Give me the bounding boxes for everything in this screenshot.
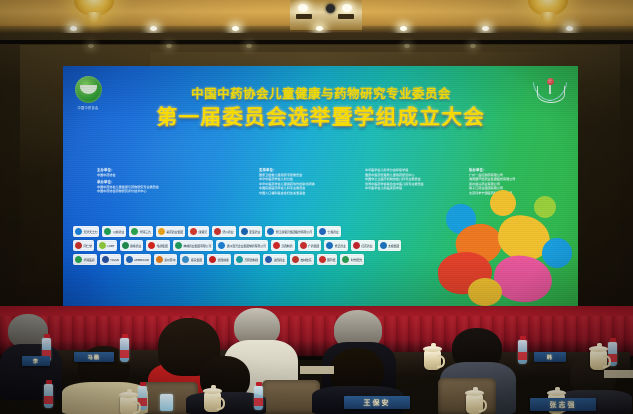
bottle-label <box>44 396 53 404</box>
ceiling-spotlight <box>70 26 77 31</box>
bottle-cap <box>140 382 146 386</box>
wall-light-spot <box>246 44 252 48</box>
tea-cup <box>204 392 221 412</box>
projector-lens <box>326 4 335 13</box>
placard-text: 张志强 <box>550 400 577 410</box>
bottle-label <box>254 398 263 406</box>
ceiling-spotlight <box>316 26 323 31</box>
ceiling-spotlight <box>150 26 157 31</box>
placard-wang-baoan: 王保安 <box>344 396 410 409</box>
projector-vent-right <box>338 14 354 19</box>
cup-knob <box>597 343 602 347</box>
projector-lamp-right <box>342 4 352 12</box>
tea-cup <box>424 350 441 370</box>
audience-area: 马融 王保安 张志强 李 韩 <box>0 300 633 414</box>
water-bottle <box>120 338 129 362</box>
tea-cup <box>120 396 137 414</box>
bottle-cap <box>256 382 262 386</box>
paper-document <box>300 366 334 374</box>
water-bottle <box>518 340 527 364</box>
bottle-cap <box>44 334 50 338</box>
placard-ma-rong: 马融 <box>74 352 114 362</box>
screen-vignette <box>63 66 578 306</box>
wall-light-spot <box>88 44 94 48</box>
placard-zhang-zhiqiang: 张志强 <box>530 398 596 411</box>
bottle-label <box>120 350 129 358</box>
paper-document <box>604 370 633 378</box>
projector-lamp-left <box>298 4 308 12</box>
cup-knob <box>211 385 216 389</box>
conference-hall-photo: 中国中药协会 中国中药协会儿童健康与药物研究专业委员会 第一届委员会选举暨学组成… <box>0 0 633 414</box>
cup-knob <box>555 387 560 391</box>
ceiling-spotlight <box>232 26 239 31</box>
wall-top-trim <box>0 40 633 44</box>
cup-knob <box>127 389 132 393</box>
tea-cup <box>466 394 483 414</box>
bottle-cap <box>610 338 616 342</box>
chandelier-right <box>528 0 568 24</box>
bottle-label <box>518 352 527 360</box>
chandelier-drop <box>541 12 555 23</box>
ceiling-spotlight <box>400 26 407 31</box>
led-banner-screen: 中国中药协会 中国中药协会儿童健康与药物研究专业委员会 第一届委员会选举暨学组成… <box>63 66 578 306</box>
chandelier-left <box>74 0 114 24</box>
chandelier-drop <box>87 12 101 23</box>
wall-light-spot <box>166 44 172 48</box>
bottle-cap <box>520 336 526 340</box>
placard-text: 李 <box>33 358 39 365</box>
cup-knob <box>473 387 478 391</box>
bottle-cap <box>46 380 52 384</box>
tea-cup <box>590 350 607 370</box>
wall-light-spot <box>404 44 410 48</box>
cup-knob <box>431 343 436 347</box>
wall-light-spot <box>470 44 476 48</box>
ceiling-spotlight <box>566 26 573 31</box>
projector-vent-left <box>296 14 312 19</box>
water-bottle <box>254 386 263 410</box>
placard-unnamed-left: 李 <box>22 356 50 366</box>
bottle-cap <box>122 334 128 338</box>
placard-text: 韩 <box>547 354 553 361</box>
placard-text: 王保安 <box>364 398 391 408</box>
placard-unnamed-right: 韩 <box>534 352 566 362</box>
water-bottle <box>44 384 53 408</box>
mobile-phone <box>160 394 173 411</box>
placard-text: 马融 <box>88 354 100 361</box>
ceiling-spotlight <box>482 26 489 31</box>
